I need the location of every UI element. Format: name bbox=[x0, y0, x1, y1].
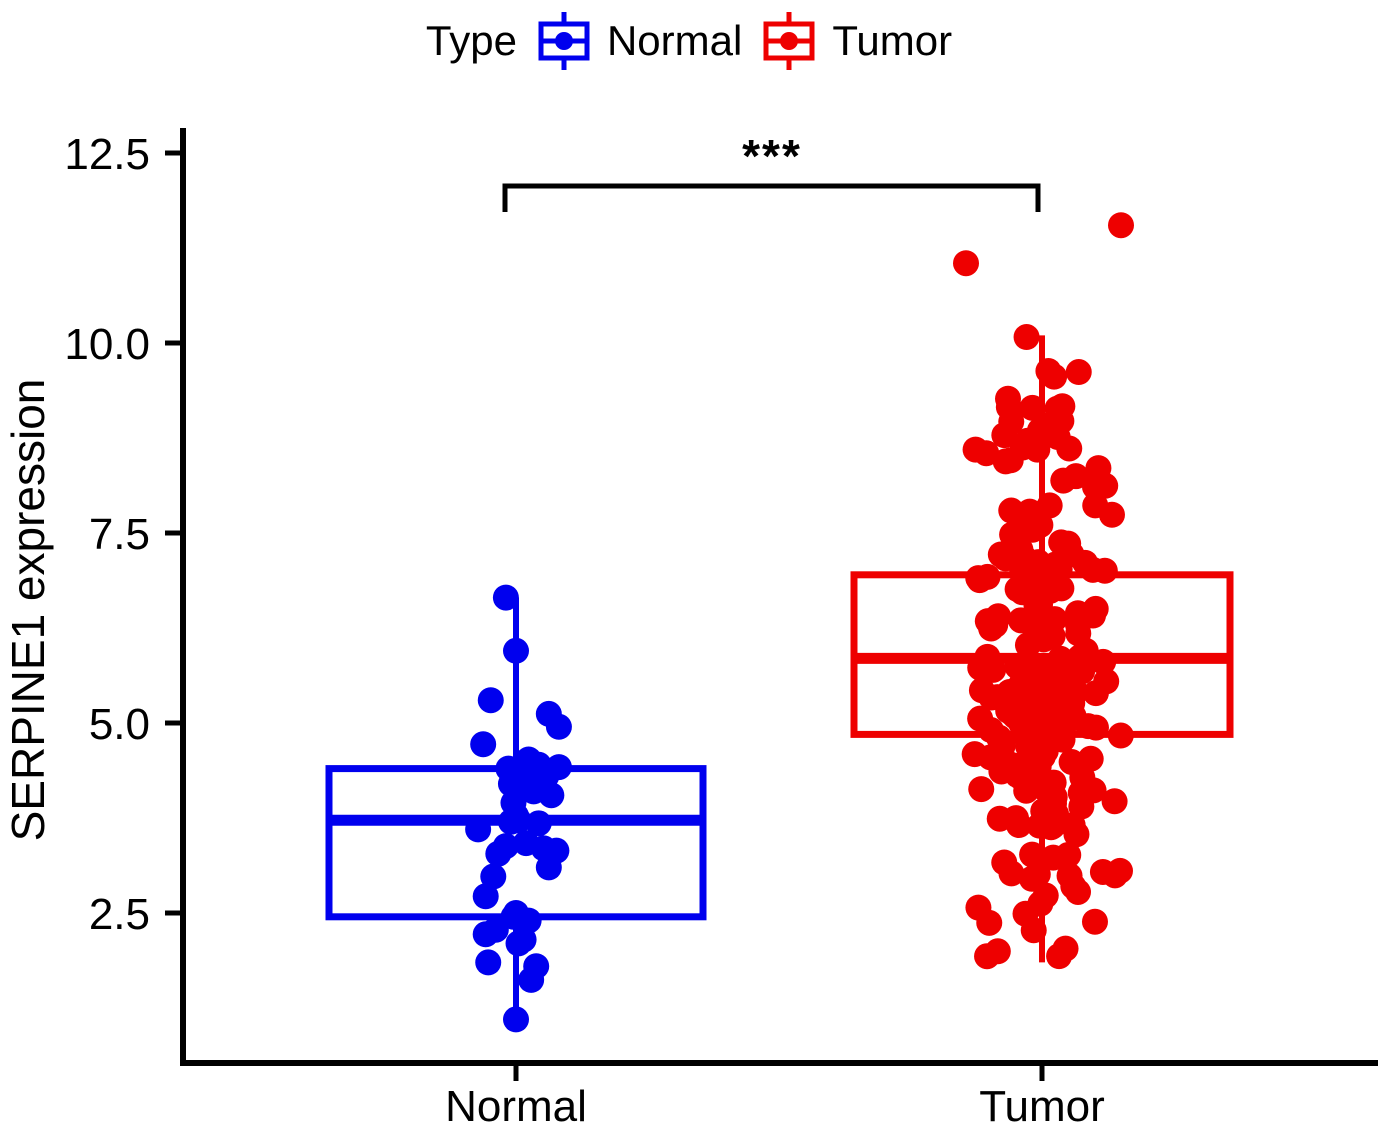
data-point bbox=[1061, 703, 1087, 729]
data-point bbox=[1090, 859, 1116, 885]
data-point bbox=[1034, 696, 1060, 722]
data-point bbox=[1053, 936, 1079, 962]
data-point bbox=[1026, 753, 1052, 779]
data-point bbox=[1045, 424, 1071, 450]
data-point bbox=[546, 714, 572, 740]
y-axis-title: SERPINE1 expression bbox=[2, 379, 54, 842]
data-point bbox=[1035, 672, 1061, 698]
data-point bbox=[1082, 474, 1108, 500]
data-point bbox=[993, 545, 1019, 571]
data-point bbox=[1043, 801, 1069, 827]
data-point bbox=[1059, 749, 1085, 775]
data-point bbox=[977, 744, 1003, 770]
data-point bbox=[1055, 842, 1081, 868]
data-point bbox=[991, 849, 1017, 875]
data-point bbox=[987, 806, 1013, 832]
data-point bbox=[1065, 879, 1091, 905]
significance-bracket bbox=[505, 186, 1038, 212]
data-point bbox=[1082, 909, 1108, 935]
data-point bbox=[470, 731, 496, 757]
y-axis-tick-labels: 2.55.07.510.012.5 bbox=[64, 130, 150, 939]
significance-annotation: *** bbox=[505, 130, 1038, 212]
data-point bbox=[473, 921, 499, 947]
data-point bbox=[475, 949, 501, 975]
data-point bbox=[473, 883, 499, 909]
significance-stars: *** bbox=[742, 130, 802, 182]
axis-layer: 2.55.07.510.012.5 Normal Tumor SERPINE1 … bbox=[2, 128, 1378, 1131]
y-tick-label: 2.5 bbox=[89, 890, 150, 939]
data-point bbox=[982, 612, 1008, 638]
y-tick-label: 5.0 bbox=[89, 700, 150, 749]
data-point bbox=[1066, 359, 1092, 385]
data-point bbox=[518, 967, 544, 993]
x-category-label-tumor: Tumor bbox=[979, 1082, 1105, 1131]
y-tick-label: 7.5 bbox=[89, 510, 150, 559]
data-point bbox=[1014, 324, 1040, 350]
data-point bbox=[974, 943, 1000, 969]
outlier-point bbox=[953, 250, 979, 276]
data-point bbox=[1025, 861, 1051, 887]
data-point bbox=[968, 776, 994, 802]
data-point bbox=[1010, 434, 1036, 460]
boxplot-canvas: 2.55.07.510.012.5 Normal Tumor SERPINE1 … bbox=[0, 0, 1378, 1139]
data-point bbox=[1002, 703, 1028, 729]
y-tick-label: 12.5 bbox=[64, 130, 150, 179]
data-point bbox=[973, 440, 999, 466]
y-tick-label: 10.0 bbox=[64, 320, 150, 369]
chart-root: Type Normal Tumor bbox=[0, 0, 1378, 1139]
data-point bbox=[1033, 777, 1059, 803]
data-point bbox=[1017, 499, 1043, 525]
outlier-point bbox=[1108, 212, 1134, 238]
data-point bbox=[976, 910, 1002, 936]
x-category-label-normal: Normal bbox=[445, 1082, 587, 1131]
data-point bbox=[1050, 468, 1076, 494]
data-point bbox=[1025, 606, 1051, 632]
data-point bbox=[485, 841, 511, 867]
data-point bbox=[478, 687, 504, 713]
data-point bbox=[538, 782, 564, 808]
data-point bbox=[536, 854, 562, 880]
data-point bbox=[1083, 680, 1109, 706]
data-point bbox=[1068, 794, 1094, 820]
data-point bbox=[1065, 612, 1091, 638]
